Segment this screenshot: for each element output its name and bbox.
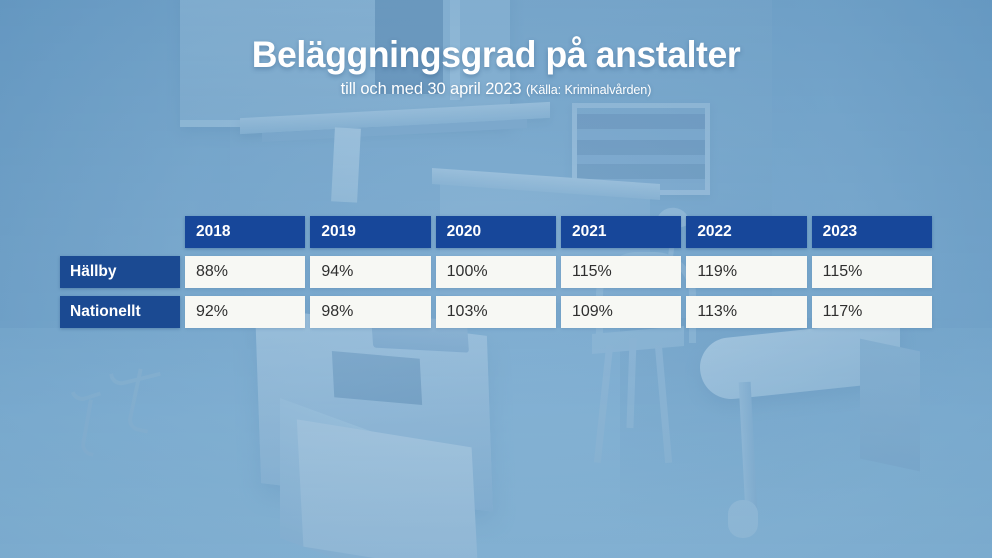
cell-nationellt-2018: 92%	[185, 296, 305, 328]
row-cells-nationellt: 92% 98% 103% 109% 113% 117%	[185, 296, 932, 328]
cell-nationellt-2020: 103%	[436, 296, 556, 328]
header-cells: 2018 2019 2020 2021 2022 2023	[185, 216, 932, 248]
row-label-hallby: Hällby	[60, 256, 180, 288]
table-row: Nationellt 92% 98% 103% 109% 113% 117%	[60, 296, 932, 328]
cell-hallby-2022: 119%	[686, 256, 806, 288]
cell-hallby-2019: 94%	[310, 256, 430, 288]
cell-nationellt-2021: 109%	[561, 296, 681, 328]
cell-hallby-2023: 115%	[812, 256, 932, 288]
cell-nationellt-2022: 113%	[686, 296, 806, 328]
graphic-overlay: Beläggningsgrad på anstalter till och me…	[0, 0, 992, 558]
occupancy-table: 2018 2019 2020 2021 2022 2023 Hällby 88%…	[60, 216, 932, 328]
cell-hallby-2018: 88%	[185, 256, 305, 288]
cell-nationellt-2019: 98%	[310, 296, 430, 328]
row-label-nationellt: Nationellt	[60, 296, 180, 328]
column-header-2021: 2021	[561, 216, 681, 248]
subtitle-source: (Källa: Kriminalvården)	[526, 82, 651, 97]
cell-hallby-2020: 100%	[436, 256, 556, 288]
column-header-2022: 2022	[686, 216, 806, 248]
column-header-2020: 2020	[436, 216, 556, 248]
column-header-2018: 2018	[185, 216, 305, 248]
column-header-2019: 2019	[310, 216, 430, 248]
table-row: Hällby 88% 94% 100% 115% 119% 115%	[60, 256, 932, 288]
page-subtitle: till och med 30 april 2023 (Källa: Krimi…	[15, 79, 977, 99]
row-cells-hallby: 88% 94% 100% 115% 119% 115%	[185, 256, 932, 288]
subtitle-period: till och med 30 april 2023	[341, 79, 522, 98]
page-title: Beläggningsgrad på anstalter	[20, 36, 972, 75]
infographic-slide: Beläggningsgrad på anstalter till och me…	[0, 0, 992, 558]
corner-cell	[60, 216, 180, 248]
title-block: Beläggningsgrad på anstalter till och me…	[0, 36, 992, 99]
column-header-2023: 2023	[812, 216, 932, 248]
table-header-row: 2018 2019 2020 2021 2022 2023	[60, 216, 932, 248]
cell-hallby-2021: 115%	[561, 256, 681, 288]
cell-nationellt-2023: 117%	[812, 296, 932, 328]
